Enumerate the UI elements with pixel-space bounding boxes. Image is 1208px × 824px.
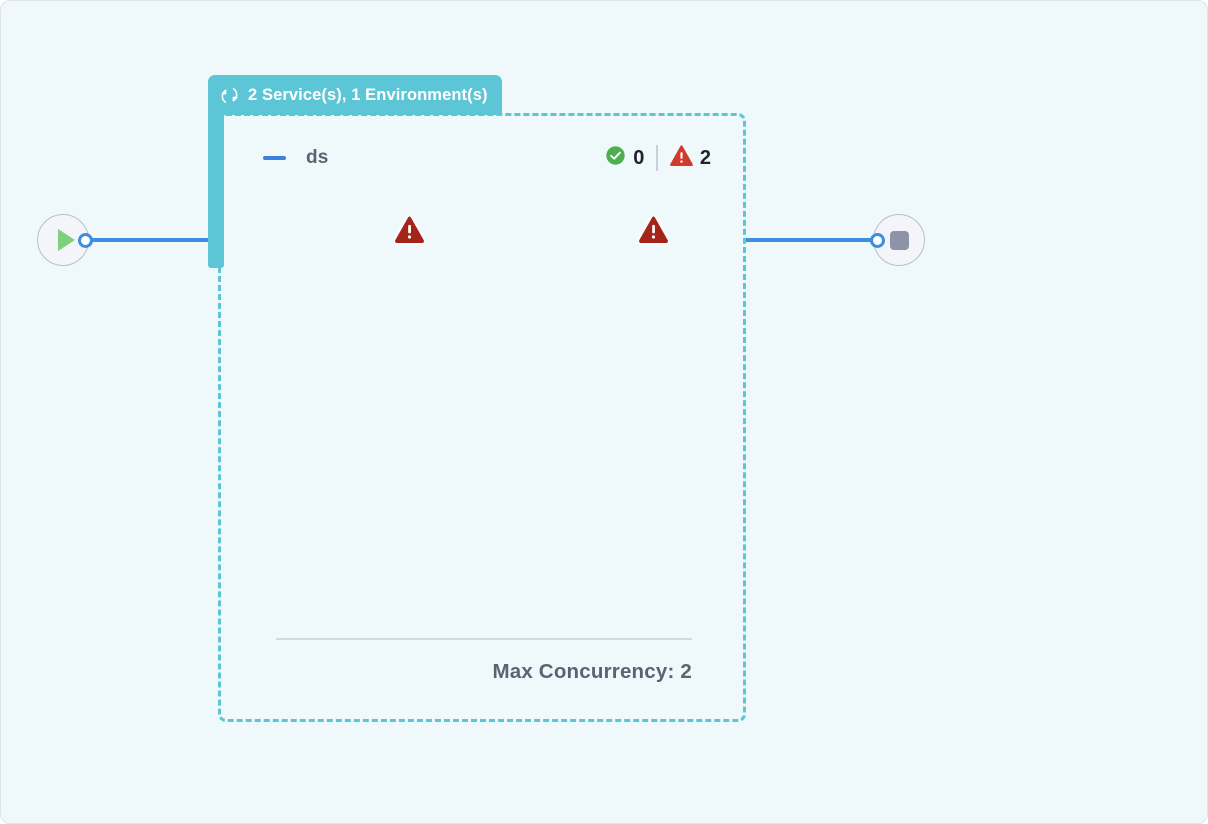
play-icon — [58, 229, 75, 251]
stop-icon — [890, 231, 909, 250]
loop-arrows-icon — [220, 86, 239, 105]
success-count: 0 — [633, 147, 644, 170]
warning-status: 2 — [670, 145, 711, 172]
status-summary: 0 2 — [605, 145, 711, 172]
status-divider — [656, 145, 658, 171]
group-title: ds — [306, 147, 329, 169]
service-group-container[interactable]: ds 0 — [218, 113, 746, 722]
end-node-input-handle[interactable] — [870, 233, 885, 248]
warning-triangle-icon — [639, 216, 668, 248]
warning-triangle-icon — [395, 216, 424, 248]
edge-group-to-end[interactable] — [743, 238, 879, 242]
footer-divider — [276, 638, 692, 640]
edge-start-to-group[interactable] — [85, 238, 221, 242]
group-tab-label: 2 Service(s), 1 Environment(s) — [248, 86, 488, 105]
warning-triangle-icon — [670, 145, 693, 172]
group-tab-header[interactable]: 2 Service(s), 1 Environment(s) — [208, 75, 502, 115]
max-concurrency-label: Max Concurrency: 2 — [276, 660, 692, 684]
warning-count: 2 — [700, 147, 711, 170]
group-left-rail — [208, 111, 224, 268]
group-header-row: ds 0 — [263, 143, 711, 173]
minus-icon[interactable] — [263, 156, 286, 160]
workflow-canvas[interactable]: 2 Service(s), 1 Environment(s) ds 0 — [0, 0, 1208, 824]
check-circle-icon — [605, 145, 626, 172]
success-status: 0 — [605, 145, 644, 172]
start-node-output-handle[interactable] — [78, 233, 93, 248]
